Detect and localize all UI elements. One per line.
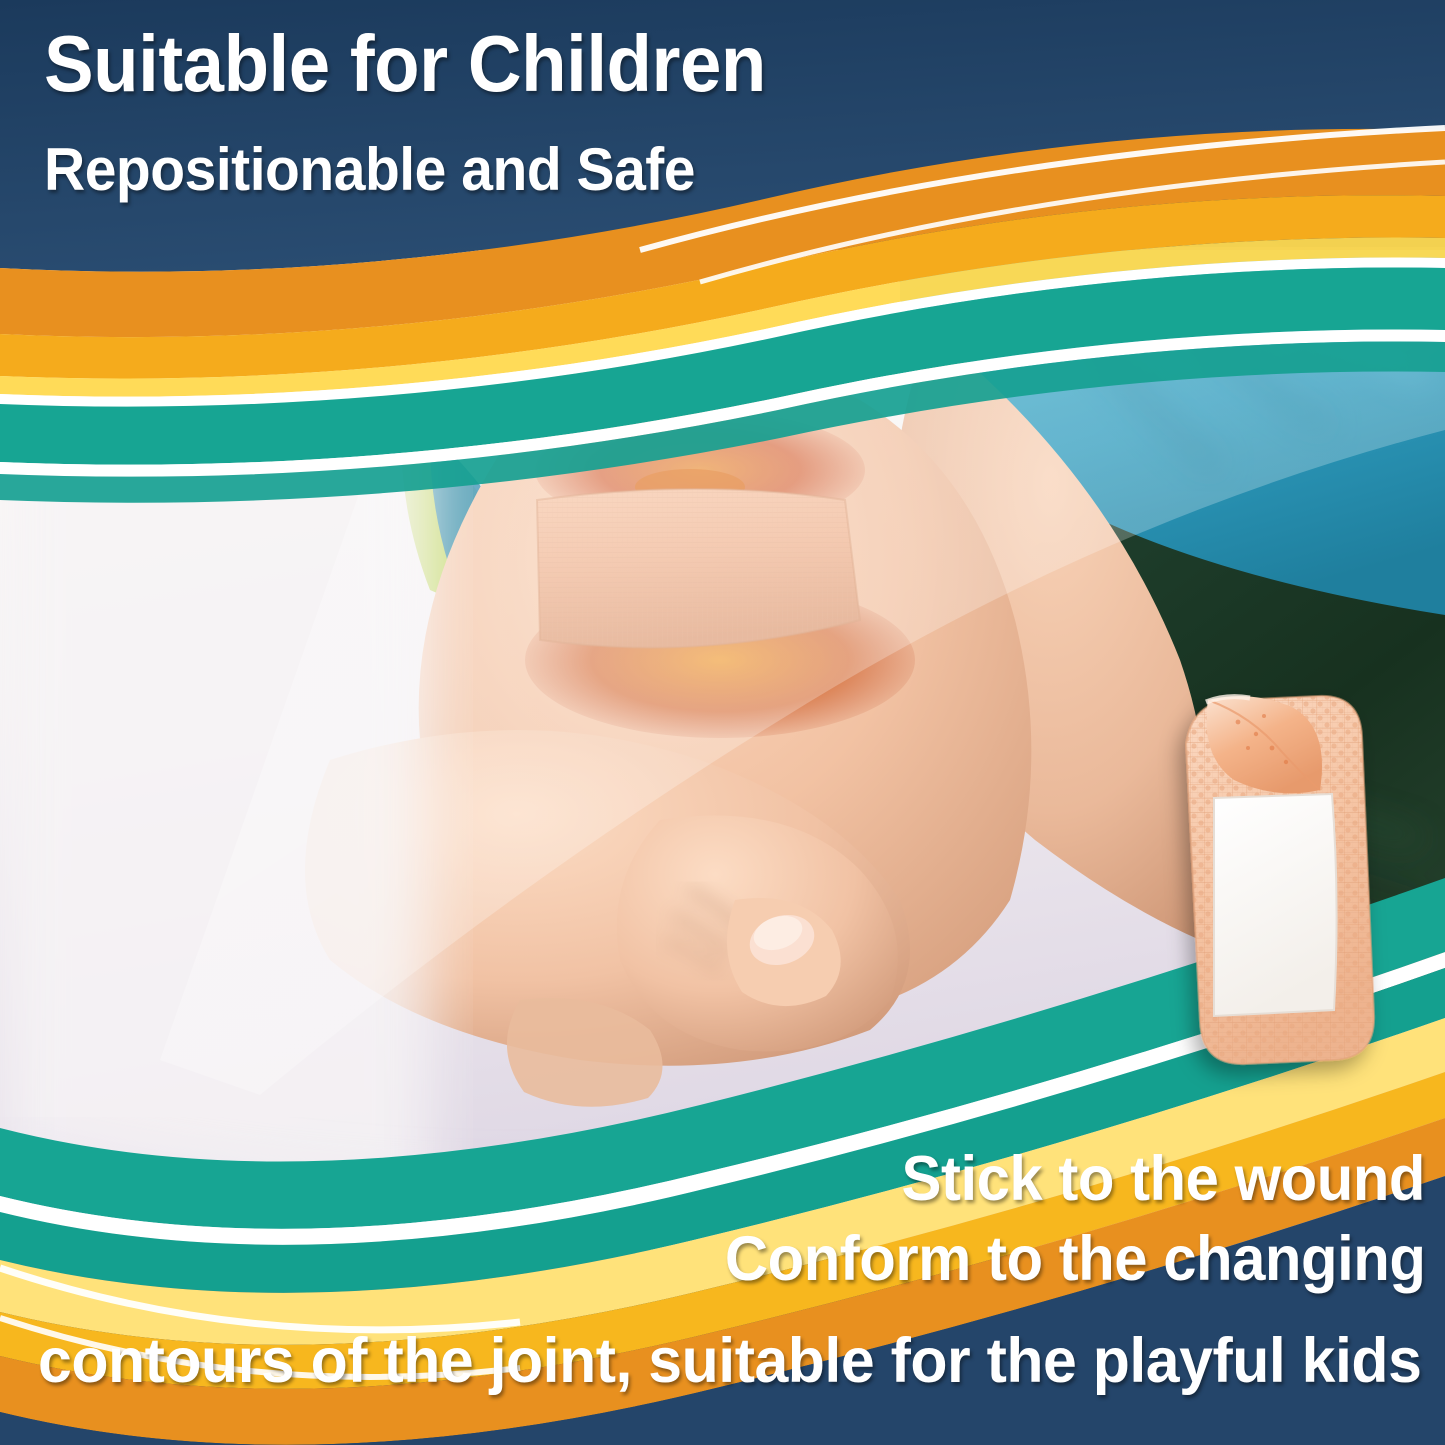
benefit-line-3: contours of the joint, suitable for the … — [38, 1330, 1421, 1393]
page-title: Suitable for Children — [44, 24, 766, 104]
page-subtitle: Repositionable and Safe — [44, 140, 695, 200]
absorbent-pad — [1214, 794, 1337, 1016]
benefit-line-2: Conform to the changing — [724, 1228, 1425, 1291]
product-banner: Suitable for Children Repositionable and… — [0, 0, 1445, 1445]
benefit-line-1: Stick to the wound — [902, 1148, 1425, 1211]
